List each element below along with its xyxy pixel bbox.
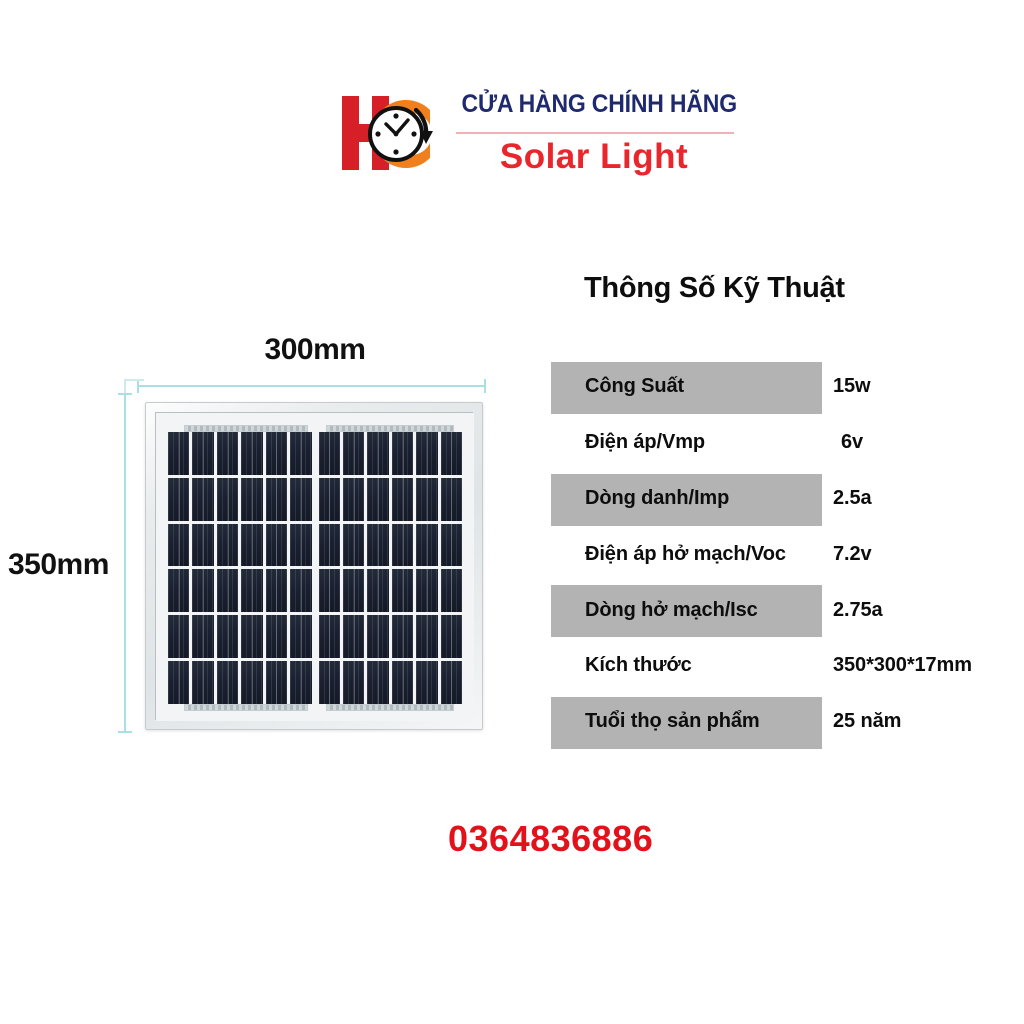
solar-cell [392,432,413,475]
solar-cell [441,524,462,567]
spec-row: Dòng hở mạch/Isc2.75a [540,582,1024,638]
spec-label: Điện áp/Vmp [585,415,705,471]
solar-cell [241,478,262,521]
solar-cell [392,569,413,612]
cell-row [168,524,462,567]
solar-cell [241,432,262,475]
solar-cell [392,615,413,658]
spec-label: Tuổi thọ sản phẩm [585,694,760,750]
cell-row [168,661,462,704]
dimension-width-line [137,379,486,393]
solar-cell [192,615,213,658]
solar-cell [343,661,364,704]
spec-label: Kích thước [585,638,692,694]
solar-cell [319,661,340,704]
spec-row: Điện áp/Vmp6v [540,415,1024,471]
solar-cell [343,478,364,521]
specifications-title: Thông Số Kỹ Thuật [584,272,845,305]
specifications-panel: Thông Số Kỹ Thuật Công Suất15wĐiện áp/Vm… [540,262,1024,762]
solar-cell [217,524,238,567]
solar-cell [392,524,413,567]
spec-value: 2.75a [833,582,883,638]
solar-cell [367,432,388,475]
solar-cell [392,661,413,704]
solar-cell [319,432,340,475]
solar-cell [290,478,311,521]
solar-cell [319,615,340,658]
spec-row: Dòng danh/Imp2.5a [540,471,1024,527]
solar-cell [168,615,189,658]
solar-cell [367,569,388,612]
specifications-table: Công Suất15wĐiện áp/Vmp6vDòng danh/Imp2.… [540,359,1024,750]
hc-clock-logo-icon [338,84,450,184]
solar-cell [241,615,262,658]
solar-cell [168,524,189,567]
solar-cell [290,524,311,567]
spec-value: 2.5a [833,471,872,527]
solar-cell [441,661,462,704]
dimension-width-cap-right [484,379,486,393]
dimension-width-bar [137,385,486,387]
solar-cell [367,615,388,658]
brand-logo: CỬA HÀNG CHÍNH HÃNG Solar Light [338,84,738,190]
solar-cell [416,569,437,612]
solar-cell [367,661,388,704]
brand-name: Solar Light [450,138,738,177]
panel-busbar-ribbon-bottom-left [184,704,308,711]
solar-cell [441,478,462,521]
solar-cell [290,615,311,658]
spec-label: Dòng hở mạch/Isc [585,582,758,638]
solar-cell [319,524,340,567]
dimension-height-line [118,393,132,733]
solar-cell [192,478,213,521]
solar-cell [217,615,238,658]
spec-label: Công Suất [585,359,684,415]
spec-label: Điện áp hở mạch/Voc [585,526,786,582]
contact-phone-number: 0364836886 [448,818,653,860]
spec-row: Công Suất15w [540,359,1024,415]
solar-cell [343,569,364,612]
solar-cell [319,478,340,521]
solar-cell [266,432,287,475]
brand-tagline: CỬA HÀNG CHÍNH HÃNG [462,92,727,117]
spec-label: Dòng danh/Imp [585,471,729,527]
solar-cell [192,432,213,475]
spec-row: Điện áp hở mạch/Voc7.2v [540,526,1024,582]
solar-cell [168,478,189,521]
solar-cell [441,569,462,612]
solar-cell [416,524,437,567]
solar-cell [266,661,287,704]
dimension-corner-horizontal [124,379,144,381]
dimension-height-cap-bottom [118,731,132,733]
panel-busbar-ribbon-bottom-right [326,704,454,711]
cell-row [168,478,462,521]
solar-cell [217,432,238,475]
cell-row [168,569,462,612]
spec-row: Kích thước350*300*17mm [540,638,1024,694]
solar-cell [168,432,189,475]
cell-row [168,615,462,658]
spec-value: 6v [841,415,863,471]
panel-glass-laminate [156,413,474,721]
solar-cell [343,615,364,658]
solar-cell [416,615,437,658]
solar-cell [217,569,238,612]
brand-wordmark: CỬA HÀNG CHÍNH HÃNG Solar Light [450,88,738,184]
solar-cell [192,569,213,612]
solar-cell [217,661,238,704]
solar-cell [192,524,213,567]
solar-cell [192,661,213,704]
solar-cell [367,478,388,521]
solar-cell [290,661,311,704]
photovoltaic-cell-array [168,432,462,704]
solar-cell [290,569,311,612]
solar-panel-image [145,402,483,730]
panel-busbar-ribbon-top-right [326,425,454,432]
solar-cell [266,478,287,521]
solar-cell [266,569,287,612]
solar-cell [416,478,437,521]
solar-cell [168,661,189,704]
solar-cell [416,432,437,475]
solar-cell [241,524,262,567]
solar-cell [266,615,287,658]
brand-divider [456,132,734,134]
dimension-height-bar [124,393,126,733]
solar-cell [416,661,437,704]
solar-cell [319,569,340,612]
spec-row: Tuổi thọ sản phẩm25 năm [540,694,1024,750]
dimension-height-label: 350mm [8,548,109,582]
spec-value: 7.2v [833,526,872,582]
panel-busbar-ribbon-top-left [184,425,308,432]
spec-value: 350*300*17mm [833,638,972,694]
solar-cell [441,432,462,475]
solar-cell [343,524,364,567]
solar-cell [266,524,287,567]
cell-row [168,432,462,475]
solar-cell [168,569,189,612]
solar-cell [392,478,413,521]
solar-cell [217,478,238,521]
solar-cell [367,524,388,567]
solar-cell [343,432,364,475]
spec-value: 25 năm [833,694,901,750]
solar-cell [290,432,311,475]
solar-cell [441,615,462,658]
spec-value: 15w [833,359,871,415]
solar-cell [241,661,262,704]
dimension-width-label: 300mm [145,333,485,367]
solar-cell [241,569,262,612]
